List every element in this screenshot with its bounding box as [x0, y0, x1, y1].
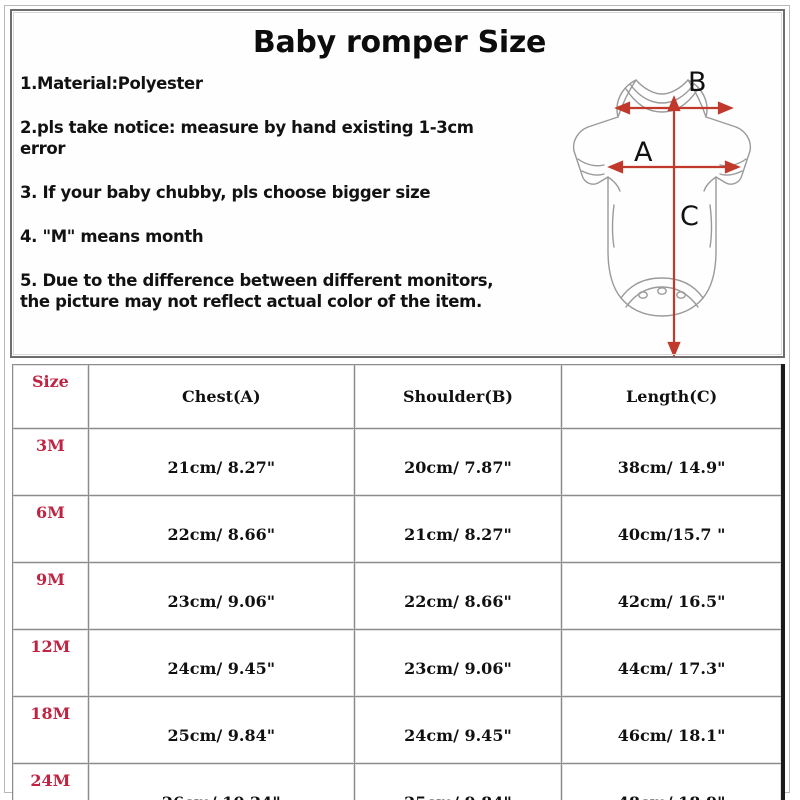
cell-size: 18M	[13, 697, 89, 764]
column-header-shoulder: Shoulder(B)	[354, 365, 561, 429]
dimension-label-a: A	[634, 139, 652, 166]
cell-shoulder: 23cm/ 9.06"	[354, 630, 561, 697]
cell-size: 9M	[13, 563, 89, 630]
dimension-label-b: B	[688, 69, 707, 96]
cell-shoulder: 21cm/ 8.27"	[354, 496, 561, 563]
romper-diagram: A B C	[540, 55, 780, 357]
table-row: 24M 26cm/ 10.24" 25cm/ 9.84" 48cm/ 18.9"	[13, 764, 784, 800]
cell-chest: 26cm/ 10.24"	[88, 764, 354, 800]
size-chart-page: Baby romper Size 1.Material:Polyester 2.…	[0, 0, 800, 800]
cell-chest: 24cm/ 9.45"	[88, 630, 354, 697]
cell-length: 38cm/ 14.9"	[562, 429, 783, 496]
size-table: Size Chest(A) Shoulder(B) Length(C) 3M 2…	[12, 364, 785, 800]
table-row: 18M 25cm/ 9.84" 24cm/ 9.45" 46cm/ 18.1"	[13, 697, 784, 764]
table-row: 3M 21cm/ 8.27" 20cm/ 7.87" 38cm/ 14.9"	[13, 429, 784, 496]
table-row: 9M 23cm/ 9.06" 22cm/ 8.66" 42cm/ 16.5"	[13, 563, 784, 630]
cell-size: 12M	[13, 630, 89, 697]
info-panel: Baby romper Size 1.Material:Polyester 2.…	[10, 9, 785, 358]
table-row: 6M 22cm/ 8.66" 21cm/ 8.27" 40cm/15.7 "	[13, 496, 784, 563]
note-item: 4. "M" means month	[20, 226, 520, 247]
cell-size: 24M	[13, 764, 89, 800]
column-header-size: Size	[13, 365, 89, 429]
cell-shoulder: 22cm/ 8.66"	[354, 563, 561, 630]
cell-size: 6M	[13, 496, 89, 563]
cell-length: 44cm/ 17.3"	[562, 630, 783, 697]
table-row: 12M 24cm/ 9.45" 23cm/ 9.06" 44cm/ 17.3"	[13, 630, 784, 697]
romper-illustration	[540, 55, 780, 357]
cell-chest: 22cm/ 8.66"	[88, 496, 354, 563]
cell-chest: 23cm/ 9.06"	[88, 563, 354, 630]
cell-size: 3M	[13, 429, 89, 496]
cell-length: 46cm/ 18.1"	[562, 697, 783, 764]
note-item: 2.pls take notice: measure by hand exist…	[20, 117, 520, 159]
notes-list: 1.Material:Polyester 2.pls take notice: …	[20, 73, 520, 312]
cell-length: 42cm/ 16.5"	[562, 563, 783, 630]
note-item: 5. Due to the difference between differe…	[20, 270, 520, 312]
cell-length: 40cm/15.7 "	[562, 496, 783, 563]
cell-shoulder: 24cm/ 9.45"	[354, 697, 561, 764]
note-item: 1.Material:Polyester	[20, 73, 520, 94]
column-header-length: Length(C)	[562, 365, 783, 429]
dimension-label-c: C	[680, 203, 699, 230]
table-header-row: Size Chest(A) Shoulder(B) Length(C)	[13, 365, 784, 429]
cell-chest: 21cm/ 8.27"	[88, 429, 354, 496]
cell-shoulder: 20cm/ 7.87"	[354, 429, 561, 496]
cell-length: 48cm/ 18.9"	[562, 764, 783, 800]
note-item: 3. If your baby chubby, pls choose bigge…	[20, 182, 520, 203]
cell-shoulder: 25cm/ 9.84"	[354, 764, 561, 800]
cell-chest: 25cm/ 9.84"	[88, 697, 354, 764]
column-header-chest: Chest(A)	[88, 365, 354, 429]
